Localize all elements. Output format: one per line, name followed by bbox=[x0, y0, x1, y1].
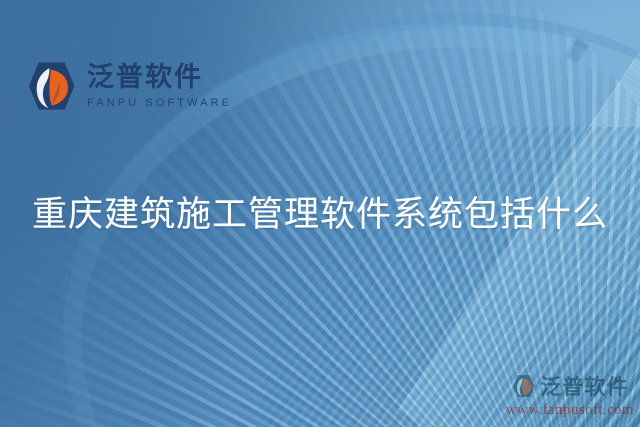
brand-name-cn: 泛普软件 bbox=[87, 64, 232, 91]
watermark-name-cn: 泛普软件 bbox=[540, 371, 628, 401]
brand-wordmark: 泛普软件 FANPU SOFTWARE bbox=[87, 64, 232, 109]
fanpu-hexagon-leaf-logo-icon bbox=[24, 60, 76, 112]
watermark-logo-row: 泛普软件 bbox=[511, 371, 628, 401]
banner-headline: 重庆建筑施工管理软件系统包括什么 bbox=[0, 186, 640, 237]
brand-name-en: FANPU SOFTWARE bbox=[87, 98, 232, 109]
brand-logo: 泛普软件 FANPU SOFTWARE bbox=[24, 60, 232, 112]
banner-image: 泛普软件 FANPU SOFTWARE 重庆建筑施工管理软件系统包括什么 泛普软… bbox=[0, 0, 640, 427]
watermark: 泛普软件 www.fanpusoft.com bbox=[506, 371, 634, 419]
watermark-url: www.fanpusoft.com bbox=[506, 402, 634, 419]
watermark-fanpu-hexagon-leaf-logo-icon bbox=[511, 374, 535, 398]
